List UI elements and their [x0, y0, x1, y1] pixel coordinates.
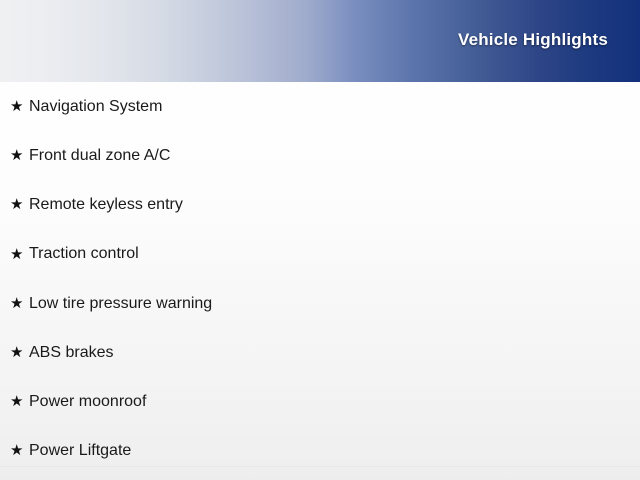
- highlight-label: Low tire pressure warning: [29, 295, 212, 313]
- list-item: ★ ABS brakes: [0, 328, 640, 377]
- list-item: ★ Traction control: [0, 230, 640, 279]
- star-icon: ★: [10, 99, 29, 114]
- highlight-label: ABS brakes: [29, 344, 113, 362]
- list-item: ★ Low tire pressure warning: [0, 279, 640, 328]
- vehicle-highlights-slide: Vehicle Highlights ★ Navigation System ★…: [0, 0, 640, 480]
- highlight-label: Front dual zone A/C: [29, 147, 170, 165]
- star-icon: ★: [10, 197, 29, 212]
- header-banner: Vehicle Highlights: [0, 0, 640, 82]
- highlight-label: Navigation System: [29, 98, 162, 116]
- list-item: ★ Power Liftgate: [0, 426, 640, 475]
- highlight-label: Traction control: [29, 245, 139, 263]
- vehicle-highlights-list: ★ Navigation System ★ Front dual zone A/…: [0, 82, 640, 476]
- highlight-label: Power Liftgate: [29, 442, 131, 460]
- highlight-label: Remote keyless entry: [29, 196, 183, 214]
- star-icon: ★: [10, 148, 29, 163]
- star-icon: ★: [10, 443, 29, 458]
- star-icon: ★: [10, 345, 29, 360]
- list-item: ★ Front dual zone A/C: [0, 131, 640, 180]
- list-item: ★ Power moonroof: [0, 377, 640, 426]
- highlight-label: Power moonroof: [29, 393, 146, 411]
- bottom-divider: [0, 466, 640, 467]
- star-icon: ★: [10, 296, 29, 311]
- page-title: Vehicle Highlights: [458, 30, 608, 50]
- star-icon: ★: [10, 394, 29, 409]
- list-item: ★ Navigation System: [0, 82, 640, 131]
- list-item: ★ Remote keyless entry: [0, 180, 640, 229]
- star-icon: ★: [10, 247, 29, 262]
